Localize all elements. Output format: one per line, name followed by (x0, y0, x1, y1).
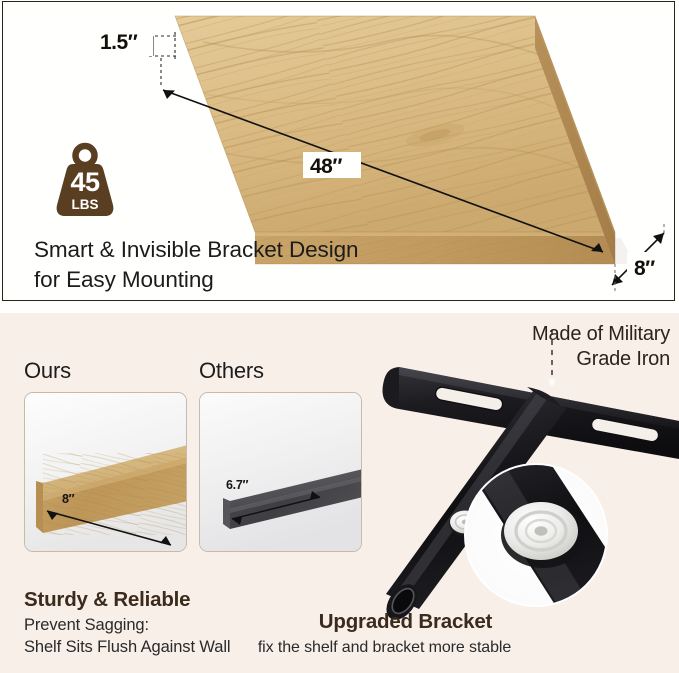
upgraded-bracket-subtext: fix the shelf and bracket more stable (0, 639, 679, 657)
military-grade-callout: Made of Military Grade Iron (430, 322, 670, 372)
weight-capacity-badge: 45 LBS (51, 142, 119, 220)
dimension-length: 48″ (310, 155, 342, 179)
military-line-2: Grade Iron (430, 347, 670, 372)
dimension-thickness: 1.5″ (100, 31, 137, 55)
comparison-title-others: Others (199, 358, 264, 384)
sturdy-title: Sturdy & Reliable (24, 588, 190, 612)
product-infographic: 1.5″ 48″ 8″ 45 LBS Smart & Invisible Bra… (0, 0, 679, 673)
comparison-dimension-others: 6.7″ (226, 478, 248, 492)
headline-line-2: for Easy Mounting (34, 265, 464, 295)
comparison-image-ours (24, 392, 187, 552)
weight-unit: LBS (51, 198, 119, 212)
comparison-title-ours: Ours (24, 358, 71, 384)
comparison-image-others (199, 392, 362, 552)
top-headline: Smart & Invisible Bracket Design for Eas… (34, 235, 464, 295)
headline-line-1: Smart & Invisible Bracket Design (34, 235, 464, 265)
military-line-1: Made of Military (430, 322, 670, 347)
top-panel: 1.5″ 48″ 8″ 45 LBS Smart & Invisible Bra… (2, 1, 675, 301)
comparison-dimension-ours: 8″ (62, 492, 74, 506)
dimension-depth: 8″ (634, 257, 655, 281)
upgraded-bracket-title: Upgraded Bracket (0, 610, 679, 634)
weight-value: 45 (51, 169, 119, 196)
